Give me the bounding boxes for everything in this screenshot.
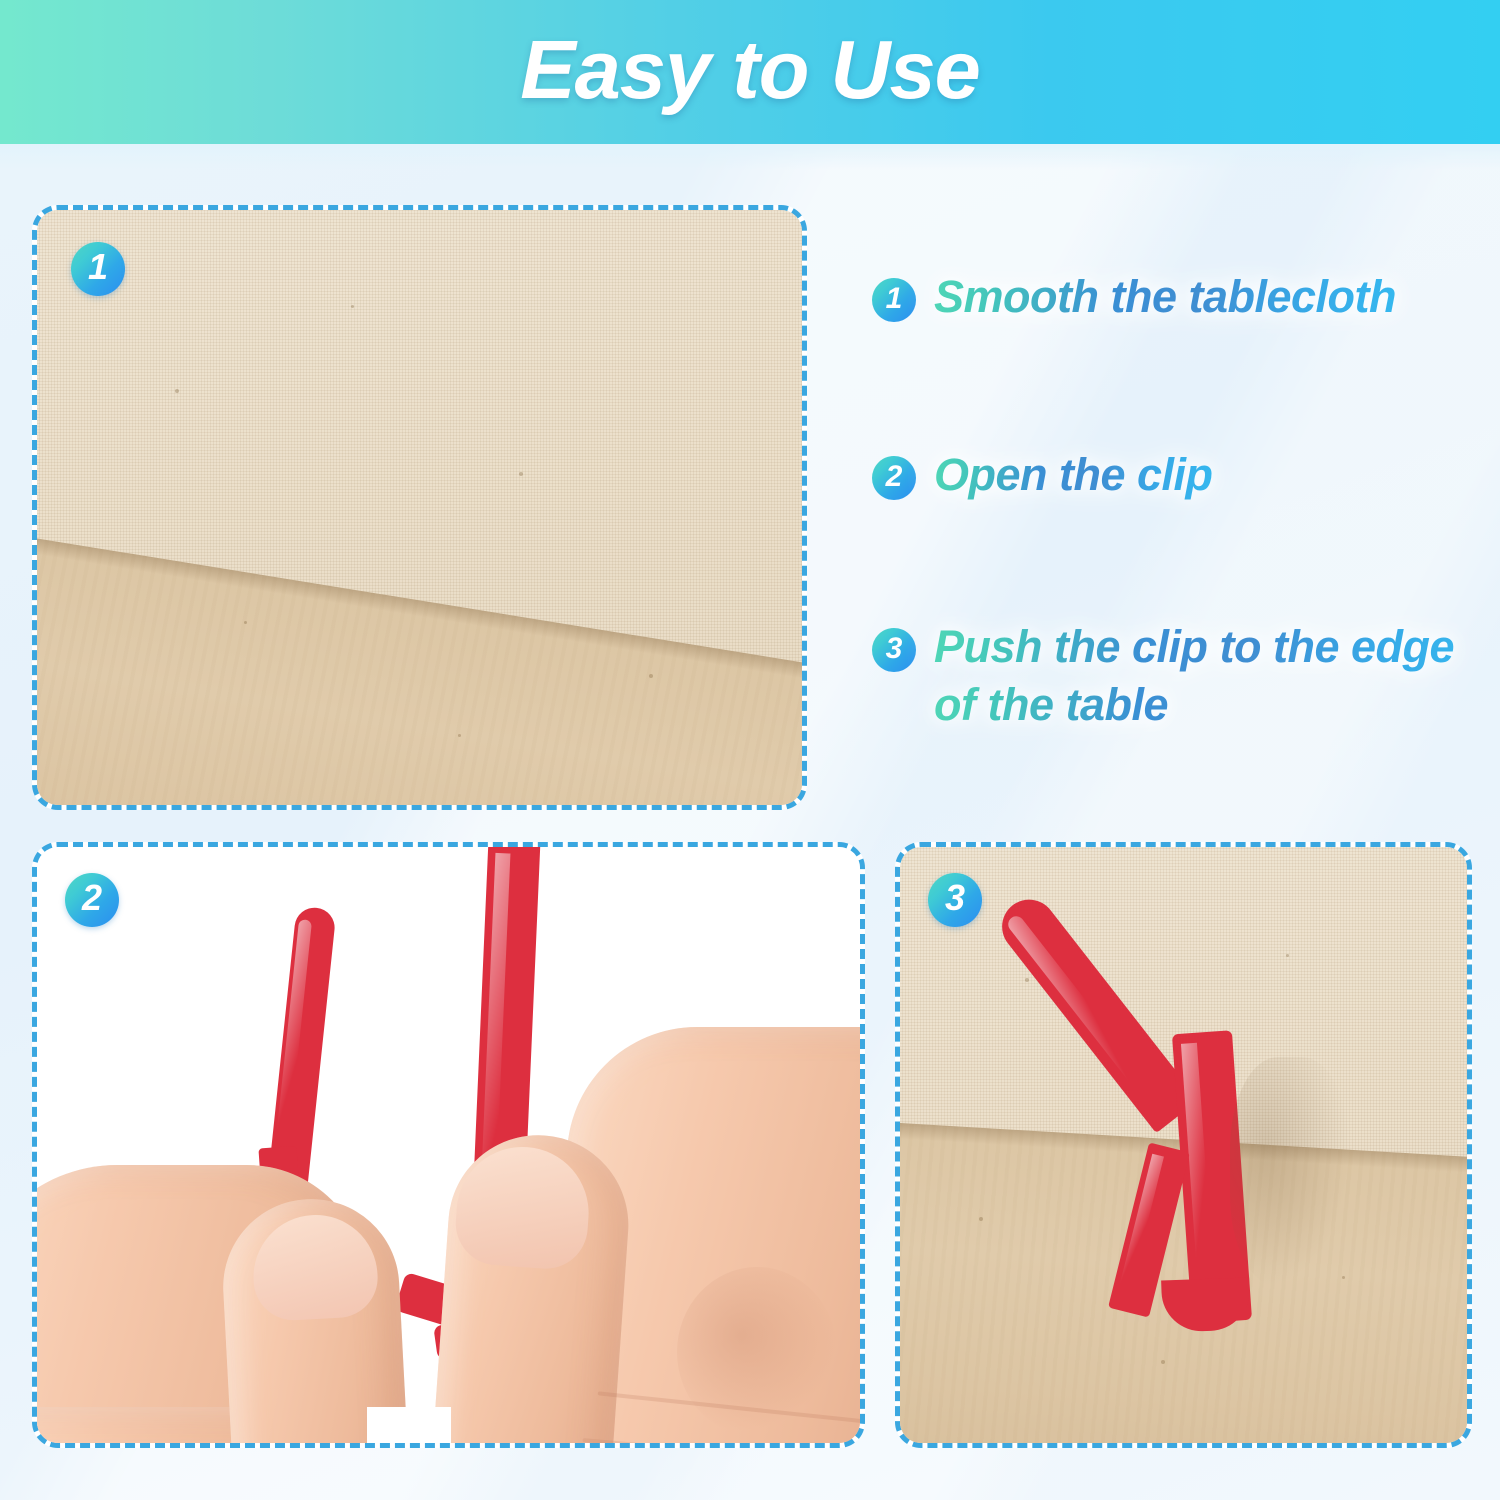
infographic-page: Easy to Use 1 bbox=[0, 0, 1500, 1500]
panel-3-number: 3 bbox=[945, 880, 965, 916]
step-1-photo bbox=[37, 210, 802, 805]
fabric-speck bbox=[244, 621, 247, 624]
step-2-label: Open the clip bbox=[934, 446, 1213, 504]
step-2-photo bbox=[37, 847, 860, 1443]
step-item-3: 3 Push the clip to the edge of the table bbox=[872, 618, 1479, 733]
panel-3-number-badge: 3 bbox=[928, 873, 982, 927]
step-3-photo bbox=[900, 847, 1467, 1443]
step-2-image-panel: 2 bbox=[32, 842, 865, 1448]
step-item-1: 1 Smooth the tablecloth bbox=[872, 268, 1396, 326]
step-3-number-badge: 3 bbox=[872, 628, 916, 672]
step-1-image-panel: 1 bbox=[32, 205, 807, 810]
step-2-number: 2 bbox=[886, 462, 903, 492]
header-fade-divider bbox=[0, 144, 1500, 170]
fabric-speck bbox=[458, 734, 461, 737]
fabric-speck bbox=[979, 1217, 983, 1221]
fabric-speck bbox=[1161, 1360, 1165, 1364]
fabric-speck bbox=[351, 305, 354, 308]
panel-2-number-badge: 2 bbox=[65, 873, 119, 927]
header-banner: Easy to Use bbox=[0, 0, 1500, 144]
step-2-number-badge: 2 bbox=[872, 456, 916, 500]
step-1-label: Smooth the tablecloth bbox=[934, 268, 1396, 326]
step-1-number-badge: 1 bbox=[872, 278, 916, 322]
clip-drop-shadow bbox=[1230, 1057, 1350, 1287]
step-item-2: 2 Open the clip bbox=[872, 446, 1213, 504]
panel-1-number-badge: 1 bbox=[71, 242, 125, 296]
panel-1-number: 1 bbox=[88, 249, 108, 285]
fabric-speck bbox=[519, 472, 523, 476]
step-1-number: 1 bbox=[886, 284, 903, 314]
fabric-speck bbox=[1286, 954, 1289, 957]
fabric-speck bbox=[1025, 978, 1029, 982]
step-3-label: Push the clip to the edge of the table bbox=[934, 618, 1479, 733]
panel-2-number: 2 bbox=[82, 880, 102, 916]
step-3-number: 3 bbox=[886, 634, 903, 664]
page-title: Easy to Use bbox=[520, 28, 980, 117]
background-gap bbox=[367, 1407, 451, 1443]
step-3-image-panel: 3 bbox=[895, 842, 1472, 1448]
fabric-speck bbox=[175, 389, 179, 393]
